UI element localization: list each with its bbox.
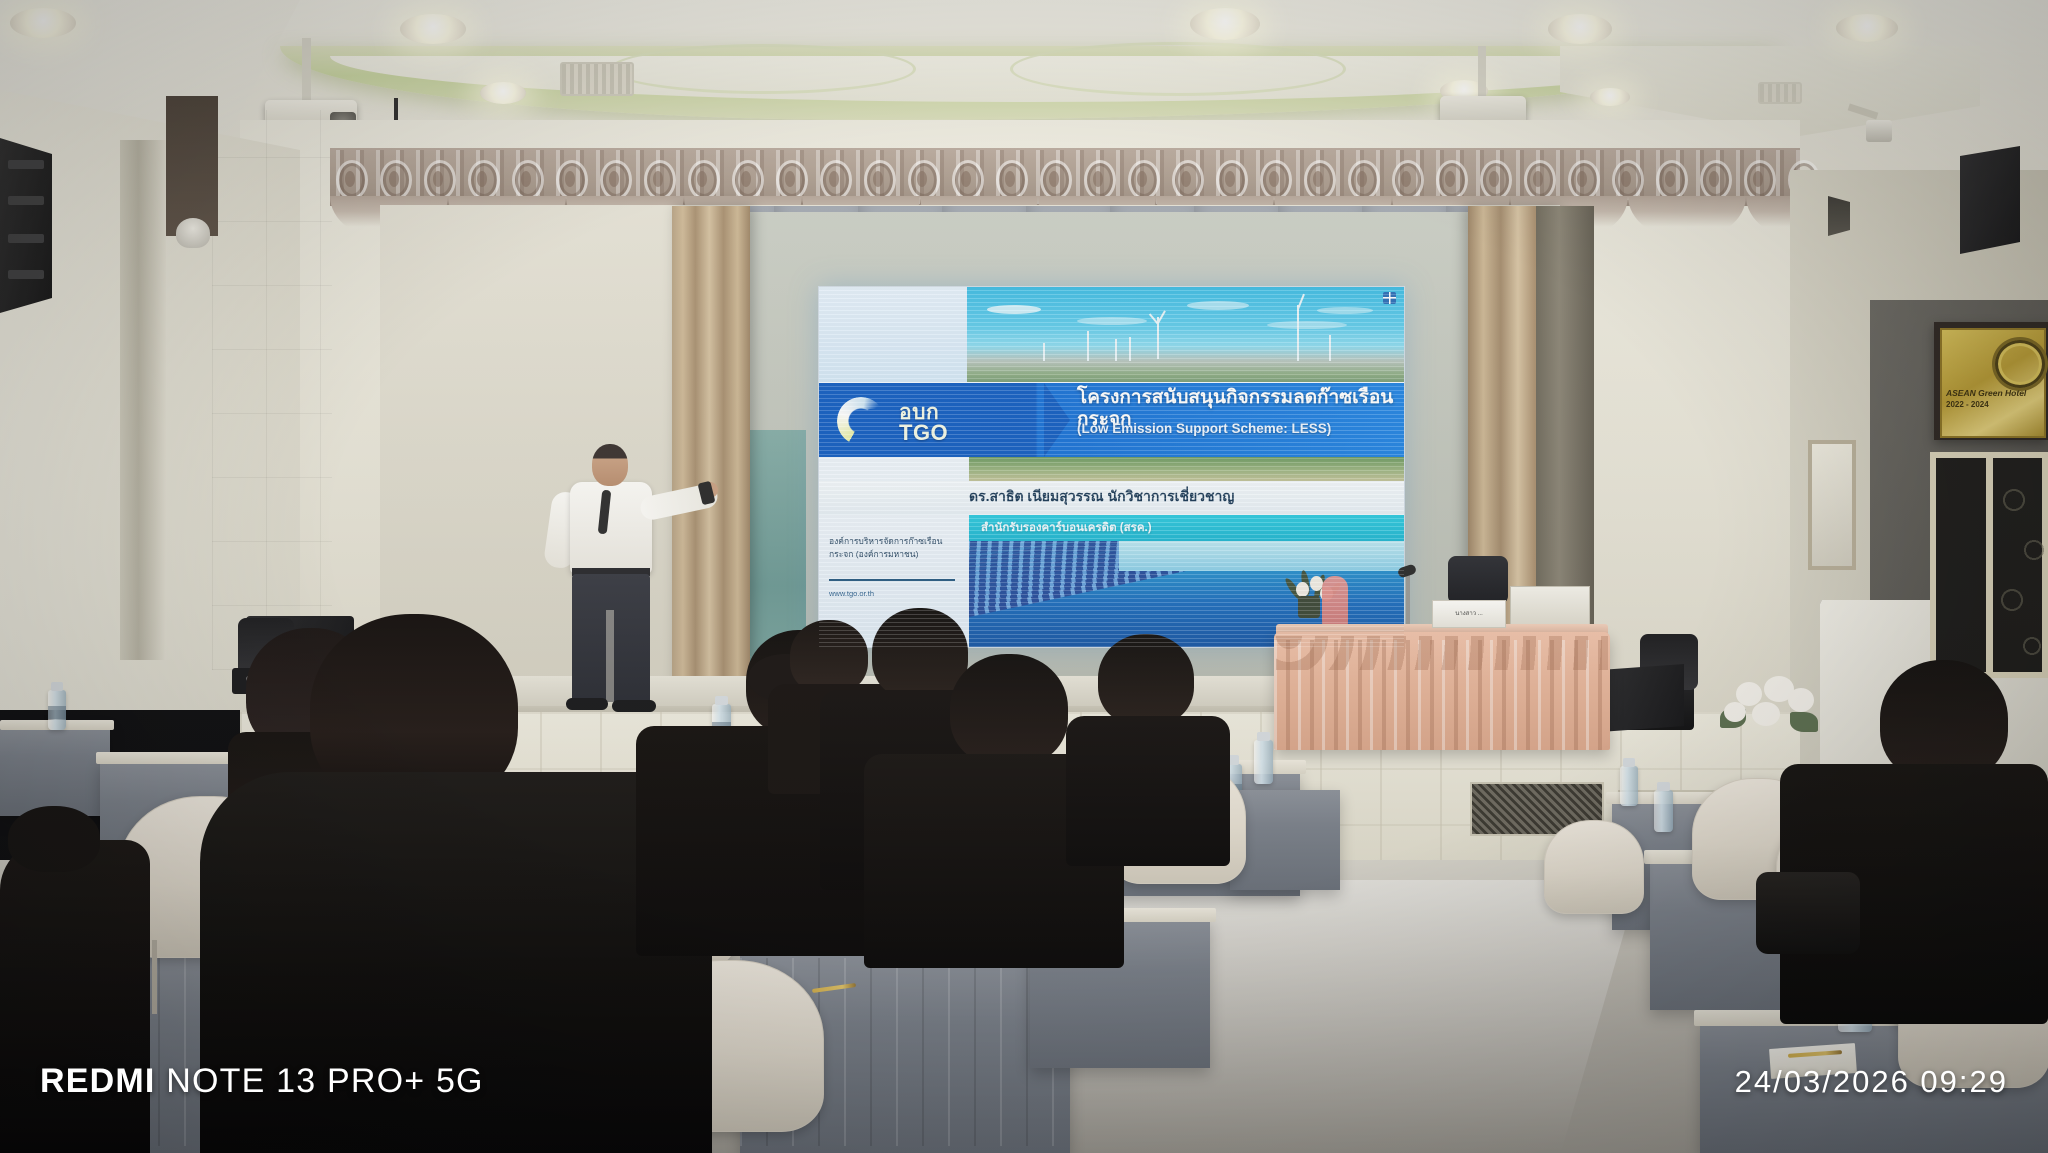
- bottle-cap: [1623, 758, 1635, 767]
- ceiling-oval-a: [610, 44, 916, 94]
- head-table-skirt-swags: [1276, 636, 1608, 670]
- ceiling-air-vent: [560, 62, 634, 96]
- slide-org-name: สำนักรับรองคาร์บอนเครดิต (สรค.): [981, 519, 1152, 537]
- frieze-medallion: [1480, 160, 1512, 200]
- frieze-medallion: [1744, 160, 1776, 200]
- bottle-cap: [51, 682, 63, 691]
- ceiling-downlight: [1548, 14, 1612, 44]
- head-table-board: [1510, 586, 1590, 628]
- slide-footer-url: www.tgo.or.th: [829, 589, 874, 598]
- slide-title-english: (Low Emission Support Scheme: LESS): [1077, 421, 1397, 436]
- presenter-head: [592, 444, 628, 486]
- frieze-medallion: [600, 160, 632, 200]
- tgo-logo-latin: TGO: [899, 420, 948, 446]
- ceiling-downlight: [1590, 88, 1630, 106]
- conference-hall-photo: อบก TGO โครงการสนับสนุนกิจกรรมลดก๊าซเรือ…: [0, 0, 2048, 1153]
- frieze-medallion: [688, 160, 720, 200]
- frieze-medallion: [908, 160, 940, 200]
- head-table-mic-stand: [1406, 572, 1410, 628]
- slide-grid-icon: [1383, 292, 1396, 304]
- frieze-medallion: [1040, 160, 1072, 200]
- audience-table: [0, 724, 110, 816]
- frieze-medallion: [380, 160, 412, 200]
- line-array-speaker-left: [0, 138, 52, 313]
- slide-solar-horizon: [1119, 541, 1404, 571]
- bottle-cap: [1657, 782, 1670, 791]
- bottle-label: [48, 706, 66, 719]
- audience-chair: [1544, 820, 1644, 914]
- ceiling-oval-b: [1010, 42, 1346, 96]
- frieze-medallion: [424, 160, 456, 200]
- slide-chevron-notch: [1044, 383, 1070, 457]
- head-table-nameplate-text: นางสาว ...: [1438, 608, 1500, 618]
- plaque-years: 2022 - 2024: [1946, 400, 2038, 409]
- slide-speaker-name: ดร.สาธิต เนียมสุวรรณ นักวิชาการเชี่ยวชาญ: [969, 486, 1234, 508]
- frieze-medallion: [1084, 160, 1116, 200]
- projector-mount-rod: [302, 38, 311, 104]
- chair-leg: [152, 940, 157, 1014]
- slide-grass-strip: [969, 457, 1404, 481]
- ceiling-downlight: [10, 8, 76, 38]
- security-camera-right-icon: [1866, 120, 1892, 142]
- frieze-medallion: [512, 160, 544, 200]
- frieze-medallion: [1172, 160, 1204, 200]
- frieze-medallion: [1436, 160, 1468, 200]
- frieze-medallion: [1612, 160, 1644, 200]
- water-bottle: [1620, 766, 1638, 806]
- frieze-medallion: [1216, 160, 1248, 200]
- window-scrollwork-grille: [1996, 460, 2048, 670]
- slide-top-left-blank: [819, 287, 969, 382]
- frieze-medallion: [336, 160, 368, 200]
- left-wall-column: [120, 140, 166, 660]
- frieze-medallion: [776, 160, 808, 200]
- ceiling-downlight: [400, 14, 466, 44]
- stage-curtain-right-dark: [1536, 206, 1594, 646]
- slide-wind-turbine-photo: [967, 287, 1404, 382]
- bottle-cap: [715, 696, 728, 705]
- frieze-medallion: [732, 160, 764, 200]
- wall-light-fixture: [1828, 196, 1850, 236]
- frieze-medallion: [820, 160, 852, 200]
- frieze-medallion: [1260, 160, 1292, 200]
- frieze-medallion: [1392, 160, 1424, 200]
- frieze-medallion: [1656, 160, 1688, 200]
- stage-speaker-right-angled: [1600, 664, 1684, 732]
- frieze-scallop: [1628, 196, 1746, 240]
- frieze-medallion: [952, 160, 984, 200]
- ceiling-downlight: [480, 82, 526, 104]
- frieze-medallion: [1524, 160, 1556, 200]
- presenter-shoe-left: [566, 698, 608, 710]
- stage-curtain-left: [672, 206, 750, 686]
- audience-table: [1230, 790, 1340, 890]
- ceiling-downlight: [1190, 8, 1260, 40]
- presenter-torso-shirt: [570, 482, 652, 574]
- line-array-speaker-right: [1960, 146, 2020, 254]
- frieze-medallion: [644, 160, 676, 200]
- camera-watermark-brand: REDMI: [40, 1062, 156, 1100]
- frieze-medallion: [1700, 160, 1732, 200]
- left-wall-tile-panel: [212, 110, 332, 670]
- asean-emblem-icon: [1995, 340, 2045, 388]
- plaque-title: ASEAN Green Hotel: [1946, 388, 2038, 398]
- projector-mount-rod-2: [1478, 46, 1486, 100]
- presenter-shoe-right: [612, 700, 656, 712]
- frieze-medallion: [996, 160, 1028, 200]
- camera-watermark: REDMI NOTE 13 PRO+ 5G: [40, 1062, 484, 1101]
- head-table-vase: [1298, 596, 1320, 618]
- slide-footer-rule: [829, 579, 955, 581]
- frieze-medallion: [1568, 160, 1600, 200]
- security-camera-icon: [176, 218, 210, 248]
- ceiling-air-vent: [1758, 82, 1802, 104]
- head-table-chair: [1448, 556, 1508, 604]
- frieze-medallion: [864, 160, 896, 200]
- right-wall-frame: [1808, 440, 1856, 570]
- frieze-medallion: [1128, 160, 1160, 200]
- water-bottle: [1254, 740, 1273, 784]
- camera-timestamp: 24/03/2026 09:29: [1735, 1064, 2008, 1100]
- frieze-medallion: [1348, 160, 1380, 200]
- frieze-medallion: [556, 160, 588, 200]
- tgo-logo-c-cut: [867, 409, 889, 433]
- slide-footer-org: องค์การบริหารจัดการก๊าซเรือนกระจก (องค์ก…: [829, 535, 963, 561]
- frieze-medallion: [468, 160, 500, 200]
- tgo-logo: อบก TGO: [837, 393, 1027, 449]
- frieze-medallion: [1304, 160, 1336, 200]
- presenter-leg-gap: [606, 610, 614, 702]
- left-wall-dark-band: [166, 96, 218, 236]
- bottle-cap: [1257, 732, 1270, 741]
- ceiling-downlight: [1836, 14, 1898, 42]
- water-bottle: [1654, 790, 1673, 832]
- camera-watermark-model: NOTE 13 PRO+ 5G: [156, 1062, 484, 1100]
- window-mullion: [1986, 452, 1993, 678]
- floral-arrangement-right: [1716, 672, 1836, 750]
